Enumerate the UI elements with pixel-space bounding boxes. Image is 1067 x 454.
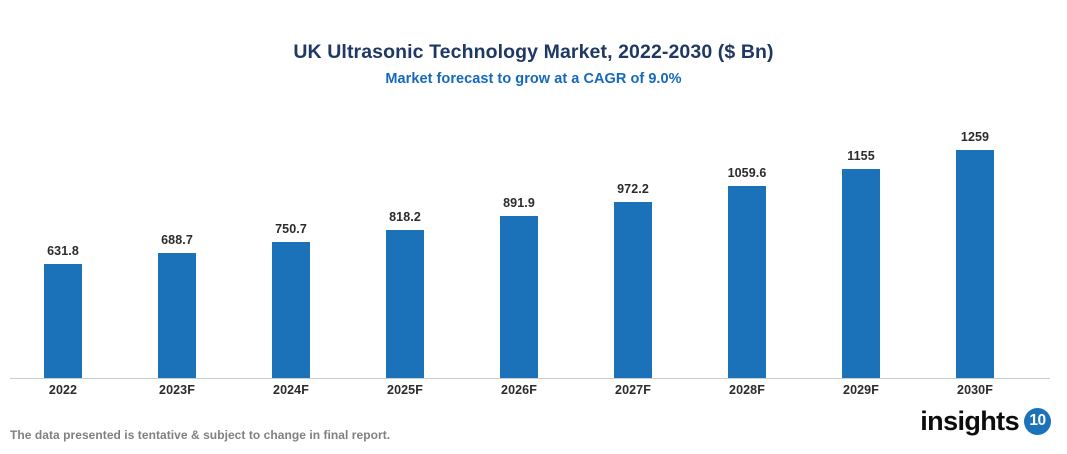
- x-axis-tick-label: 2028F: [690, 383, 804, 397]
- bar[interactable]: [386, 230, 424, 378]
- bar-value-label: 631.8: [6, 244, 120, 258]
- chart-page: UK Ultrasonic Technology Market, 2022-20…: [0, 0, 1067, 454]
- bar-column[interactable]: 972.22027F: [576, 0, 690, 454]
- bar-value-label: 972.2: [576, 182, 690, 196]
- bar-column[interactable]: 1059.62028F: [690, 0, 804, 454]
- bar-value-label: 688.7: [120, 233, 234, 247]
- bar-value-label: 1059.6: [690, 166, 804, 180]
- bar[interactable]: [842, 169, 880, 378]
- x-axis-tick-label: 2027F: [576, 383, 690, 397]
- bar-value-label: 1259: [918, 130, 1032, 144]
- bar[interactable]: [44, 264, 82, 378]
- x-axis-tick-label: 2026F: [462, 383, 576, 397]
- bar-value-label: 1155: [804, 149, 918, 163]
- logo-wordmark: insights: [920, 408, 1019, 435]
- bar-column[interactable]: 891.92026F: [462, 0, 576, 454]
- bar-column[interactable]: 12592030F: [918, 0, 1032, 454]
- bar[interactable]: [272, 242, 310, 378]
- bar-column[interactable]: 818.22025F: [348, 0, 462, 454]
- bar-value-label: 818.2: [348, 210, 462, 224]
- bar-column[interactable]: 688.72023F: [120, 0, 234, 454]
- bar-value-label: 750.7: [234, 222, 348, 236]
- bar-column[interactable]: 631.82022: [6, 0, 120, 454]
- bar[interactable]: [956, 150, 994, 378]
- bar-column[interactable]: 750.72024F: [234, 0, 348, 454]
- x-axis-tick-label: 2030F: [918, 383, 1032, 397]
- logo-badge-icon: 10: [1024, 408, 1051, 435]
- bar[interactable]: [158, 253, 196, 378]
- x-axis-tick-label: 2025F: [348, 383, 462, 397]
- bar-chart-plot-area: 631.82022688.72023F750.72024F818.22025F8…: [0, 0, 1067, 454]
- bar[interactable]: [614, 202, 652, 378]
- bar[interactable]: [500, 216, 538, 378]
- insights10-logo: insights 10: [920, 404, 1051, 438]
- x-axis-tick-label: 2023F: [120, 383, 234, 397]
- bar-column[interactable]: 11552029F: [804, 0, 918, 454]
- x-axis-tick-label: 2029F: [804, 383, 918, 397]
- x-axis-tick-label: 2022: [6, 383, 120, 397]
- bar[interactable]: [728, 186, 766, 378]
- x-axis-tick-label: 2024F: [234, 383, 348, 397]
- disclaimer-note: The data presented is tentative & subjec…: [10, 428, 390, 442]
- bar-value-label: 891.9: [462, 196, 576, 210]
